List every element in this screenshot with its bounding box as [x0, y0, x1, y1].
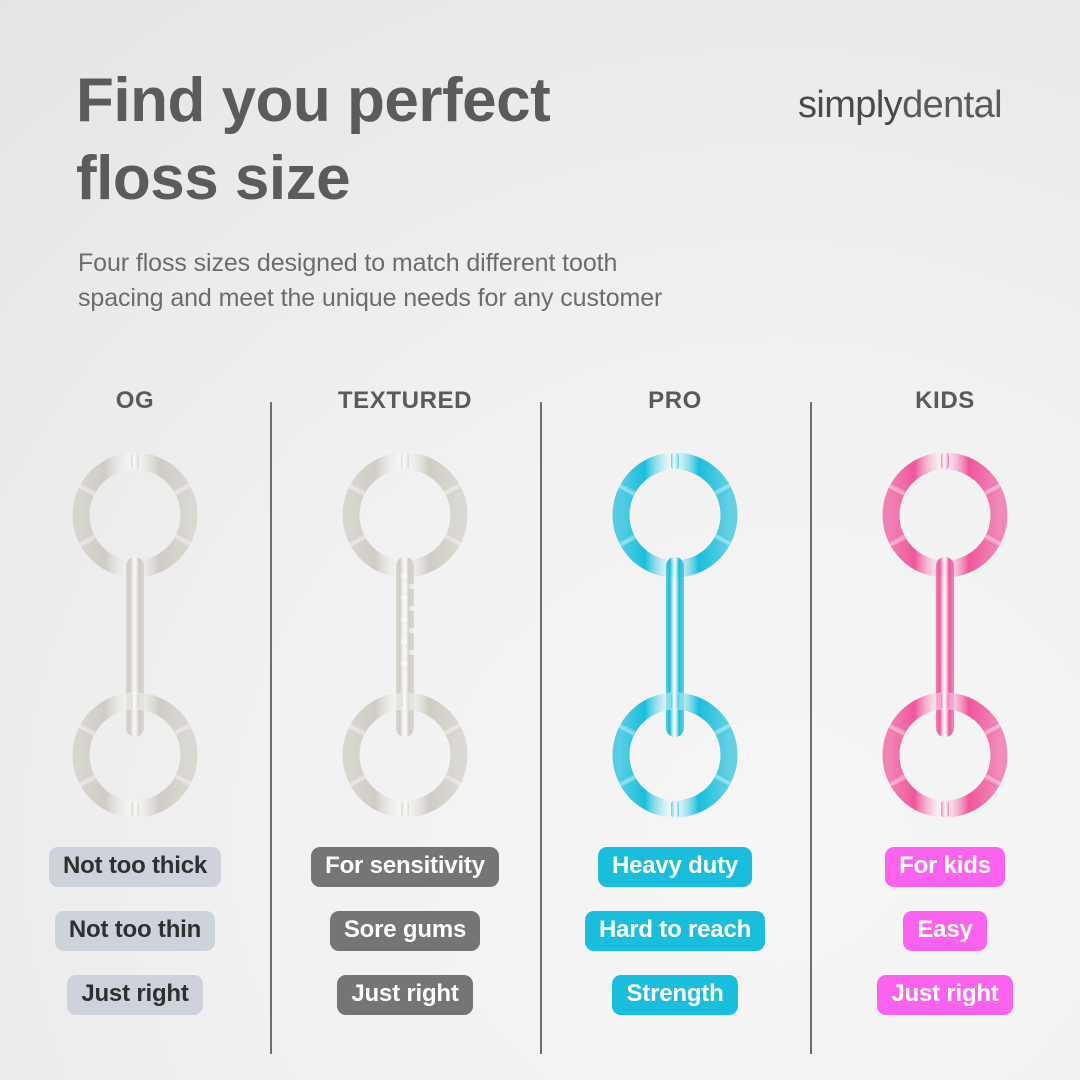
tag-badge: Just right [337, 975, 472, 1015]
page-subtitle: Four floss sizes designed to match diffe… [78, 246, 662, 316]
product-columns: OG Not too thickNot too thinJust rightTE… [0, 384, 1080, 1074]
tag-badge: Not too thick [49, 847, 221, 887]
tag-list: Not too thickNot too thinJust right [49, 847, 221, 1015]
tag-badge: Just right [877, 975, 1012, 1015]
column-title-og: OG [116, 387, 155, 415]
column-title-textured: TEXTURED [338, 387, 472, 415]
logo-text-dental: dental [902, 84, 1002, 126]
tag-badge: Sore gums [330, 911, 480, 951]
tag-list: For sensitivitySore gumsJust right [311, 847, 499, 1015]
tag-badge: For kids [885, 847, 1005, 887]
logo-text-simply: simply [798, 84, 902, 126]
floss-pick-kids-icon [850, 445, 1040, 825]
tag-badge: Hard to reach [585, 911, 765, 951]
page-title: Find you perfect floss size [76, 62, 550, 218]
product-column-og: OG Not too thickNot too thinJust right [0, 384, 270, 1074]
tag-badge: Strength [612, 975, 737, 1015]
product-column-pro: PRO Heavy dutyHard to reachStrength [540, 384, 810, 1074]
tag-list: For kidsEasyJust right [877, 847, 1012, 1015]
tag-badge: For sensitivity [311, 847, 499, 887]
floss-pick-og-icon [40, 445, 230, 825]
column-title-kids: KIDS [915, 387, 975, 415]
tag-badge: Not too thin [55, 911, 215, 951]
tag-badge: Heavy duty [598, 847, 752, 887]
product-column-kids: KIDS For kidsEasyJust right [810, 384, 1080, 1074]
floss-pick-pro-icon [580, 445, 770, 825]
tag-list: Heavy dutyHard to reachStrength [585, 847, 765, 1015]
brand-logo: simplydental [798, 83, 1002, 127]
product-column-textured: TEXTURED For sensitivitySore gumsJust ri… [270, 384, 540, 1074]
column-title-pro: PRO [648, 387, 702, 415]
infographic-canvas: Find you perfect floss size simplydental… [0, 0, 1080, 1080]
tag-badge: Just right [67, 975, 202, 1015]
floss-pick-textured-icon [310, 445, 500, 825]
tag-badge: Easy [903, 911, 986, 951]
